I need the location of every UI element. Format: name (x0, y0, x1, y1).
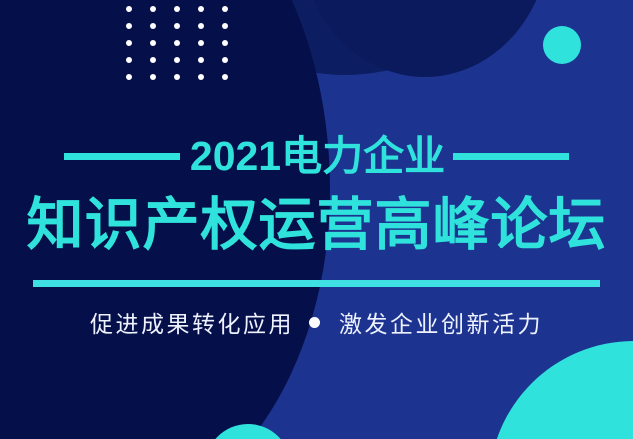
grid-dot-icon (222, 23, 228, 29)
grid-dot-icon (126, 40, 132, 46)
grid-dot-icon (174, 6, 180, 12)
grid-dot-icon (222, 6, 228, 12)
poster-subtitle-row: 促进成果转化应用 激发企业创新活力 (0, 305, 633, 339)
title-line-1-row: 2021电力企业 (0, 136, 633, 177)
poster-title-line-1: 2021电力企业 (190, 136, 445, 177)
bullet-separator-icon (309, 317, 320, 328)
grid-dot-icon (150, 23, 156, 29)
dot-grid-decoration (126, 6, 246, 91)
grid-dot-icon (126, 57, 132, 63)
grid-dot-icon (222, 57, 228, 63)
event-poster: 2021电力企业 知识产权运营高峰论坛 促进成果转化应用 激发企业创新活力 (0, 0, 633, 439)
grid-dot-icon (222, 40, 228, 46)
grid-dot-icon (126, 74, 132, 80)
grid-dot-icon (198, 6, 204, 12)
grid-dot-icon (198, 74, 204, 80)
grid-dot-icon (126, 23, 132, 29)
grid-dot-icon (198, 23, 204, 29)
grid-dot-icon (198, 57, 204, 63)
subtitle-right-text: 激发企业创新活力 (339, 305, 543, 339)
title-divider-bar (33, 280, 600, 287)
grid-dot-icon (174, 74, 180, 80)
grid-dot-icon (198, 40, 204, 46)
grid-dot-icon (126, 6, 132, 12)
grid-dot-icon (174, 40, 180, 46)
grid-dot-icon (150, 57, 156, 63)
cyan-circle-top-right-shape (543, 26, 581, 64)
grid-dot-icon (150, 6, 156, 12)
poster-title-line-2: 知识产权运营高峰论坛 (27, 193, 607, 257)
subtitle-left-text: 促进成果转化应用 (90, 305, 294, 339)
grid-dot-icon (222, 74, 228, 80)
grid-dot-icon (174, 23, 180, 29)
grid-dot-icon (150, 40, 156, 46)
grid-dot-icon (174, 57, 180, 63)
grid-dot-icon (150, 74, 156, 80)
title-rule-right (453, 153, 569, 160)
title-rule-left (64, 153, 180, 160)
title-line-2-row: 知识产权运营高峰论坛 (0, 197, 633, 254)
